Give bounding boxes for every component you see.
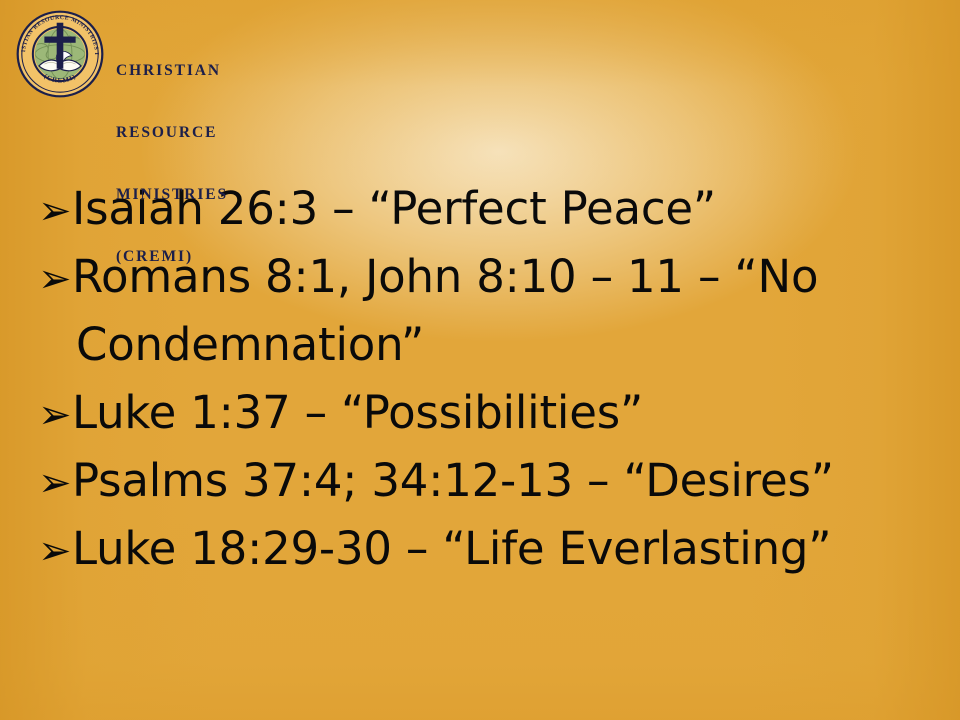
list-item-label: Luke 18:29-30 – “Life Everlasting” [72, 522, 831, 575]
wordmark-line-2: RESOURCE [116, 123, 228, 144]
cremi-seal-icon: CHRISTIAN RESOURCE MINISTRIES INC. (CREM… [14, 8, 106, 100]
list-item: ➢Psalms 37:4; 34:12-13 – “Desires” [38, 448, 938, 516]
organization-logo: CHRISTIAN RESOURCE MINISTRIES INC. (CREM… [14, 8, 228, 309]
presentation-slide: CHRISTIAN RESOURCE MINISTRIES INC. (CREM… [0, 0, 960, 720]
bullet-arrow-icon: ➢ [38, 519, 72, 584]
list-item-label: Psalms 37:4; 34:12-13 – “Desires” [72, 454, 834, 507]
list-item-label: Condemnation” [72, 318, 424, 371]
logo-wordmark: CHRISTIAN RESOURCE MINISTRIES (CREMI) [116, 20, 228, 309]
list-item-label: Luke 1:37 – “Possibilities” [72, 386, 643, 439]
wordmark-line-1: CHRISTIAN [116, 61, 228, 82]
bullet-arrow-icon: ➢ [38, 451, 72, 516]
bullet-arrow-icon: ➢ [38, 383, 72, 448]
list-item: ➢Luke 1:37 – “Possibilities” [38, 380, 938, 448]
list-item-continuation: ➢Condemnation” [38, 312, 938, 380]
wordmark-line-3: MINISTRIES [116, 185, 228, 206]
wordmark-line-4: (CREMI) [116, 247, 228, 268]
list-item: ➢Luke 18:29-30 – “Life Everlasting” [38, 516, 938, 584]
